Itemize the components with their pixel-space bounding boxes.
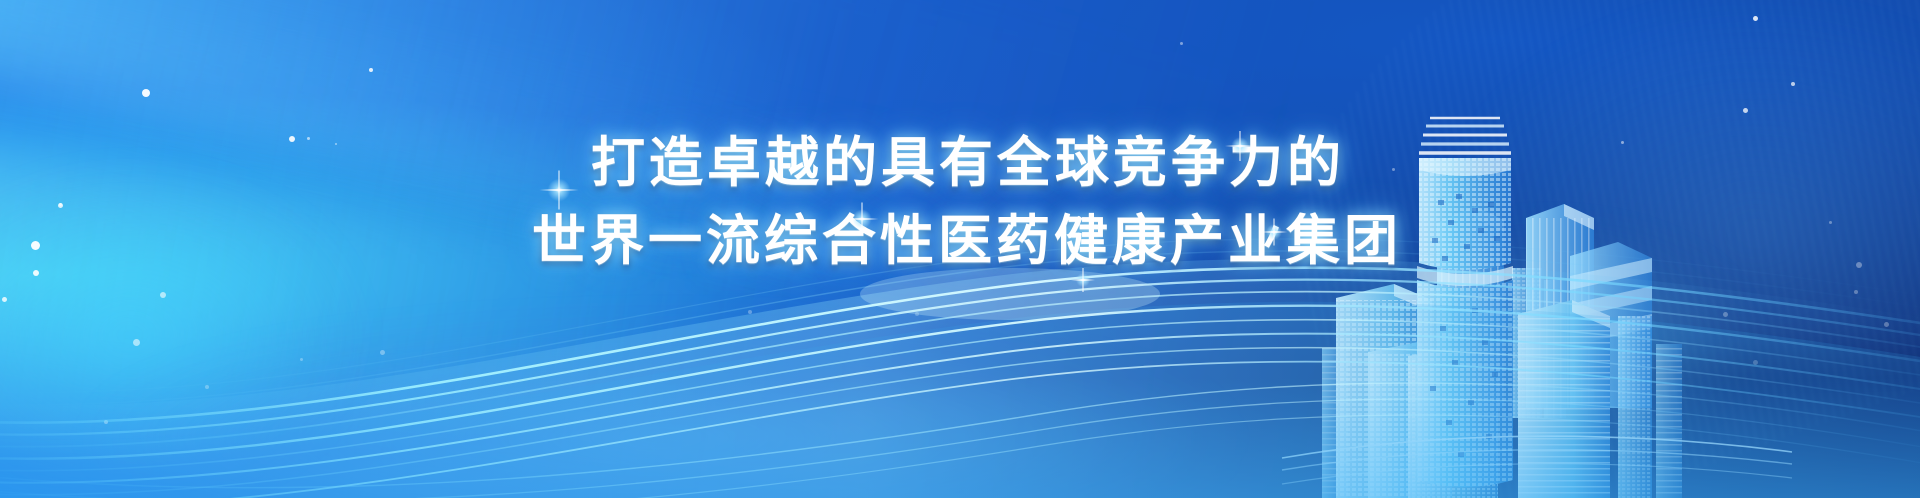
light-band-third: [0, 0, 1417, 498]
particle-dot: [307, 137, 310, 140]
particle-dot: [59, 203, 62, 206]
particle-dot: [33, 270, 39, 276]
particle-dot: [369, 68, 373, 72]
particle-dot: [1791, 82, 1795, 86]
particle-dot: [31, 241, 40, 250]
light-band-upper: [0, 0, 1346, 406]
light-band-second: [0, 0, 1341, 383]
wave-glow: [0, 288, 1440, 498]
particle-dot: [1856, 262, 1862, 268]
particle-dot: [1392, 168, 1395, 171]
headline-line-2: 世界一流综合性医药健康产业集团: [0, 202, 1920, 280]
headline-line-1: 打造卓越的具有全球竞争力的: [0, 124, 1920, 202]
particle-dot: [160, 292, 166, 298]
particle-dot: [1829, 221, 1832, 224]
particle-dot: [1180, 42, 1183, 45]
light-band-lower: [0, 112, 1214, 498]
light-wave-streaks: [0, 208, 1920, 498]
bottom-sheen: [0, 378, 1920, 498]
particle-dot: [300, 358, 303, 361]
sparkle-icon: [1265, 223, 1283, 241]
hero-banner: 打造卓越的具有全球竞争力的 世界一流综合性医药健康产业集团: [0, 0, 1920, 498]
light-halo-right: [1300, 0, 1920, 360]
particle-dot: [335, 143, 337, 145]
particle-dot: [1753, 16, 1758, 21]
cyan-glow-left: [0, 120, 440, 498]
particle-dot: [1753, 360, 1758, 365]
light-fan-right: [1211, 0, 1920, 498]
particle-dot: [1854, 290, 1858, 294]
particle-dot: [1723, 312, 1728, 317]
sparkle-icon: [1230, 136, 1250, 156]
particle-dot: [133, 339, 140, 346]
particle-dot: [1743, 108, 1748, 113]
particle-dot: [915, 312, 919, 316]
particle-dot: [748, 310, 752, 314]
particle-dot: [1621, 141, 1624, 144]
headline-block: 打造卓越的具有全球竞争力的 世界一流综合性医药健康产业集团: [0, 124, 1920, 280]
particle-dot: [289, 136, 295, 142]
particle-dot: [1884, 322, 1889, 327]
particle-dot: [142, 89, 150, 97]
particle-dot: [58, 203, 63, 208]
particle-dot: [380, 350, 385, 355]
city-skyline-graphic: [1322, 108, 1792, 498]
particle-dot: [1245, 172, 1249, 176]
skyline-haze: [1270, 158, 1830, 458]
particle-dot: [1477, 175, 1481, 179]
particle-dot: [2, 297, 7, 302]
sparkle-icon: [1075, 272, 1091, 288]
sparkle-icon: [546, 177, 572, 203]
particle-dot: [205, 385, 209, 389]
particle-dot: [104, 420, 108, 424]
sparkle-icon: [851, 208, 873, 230]
